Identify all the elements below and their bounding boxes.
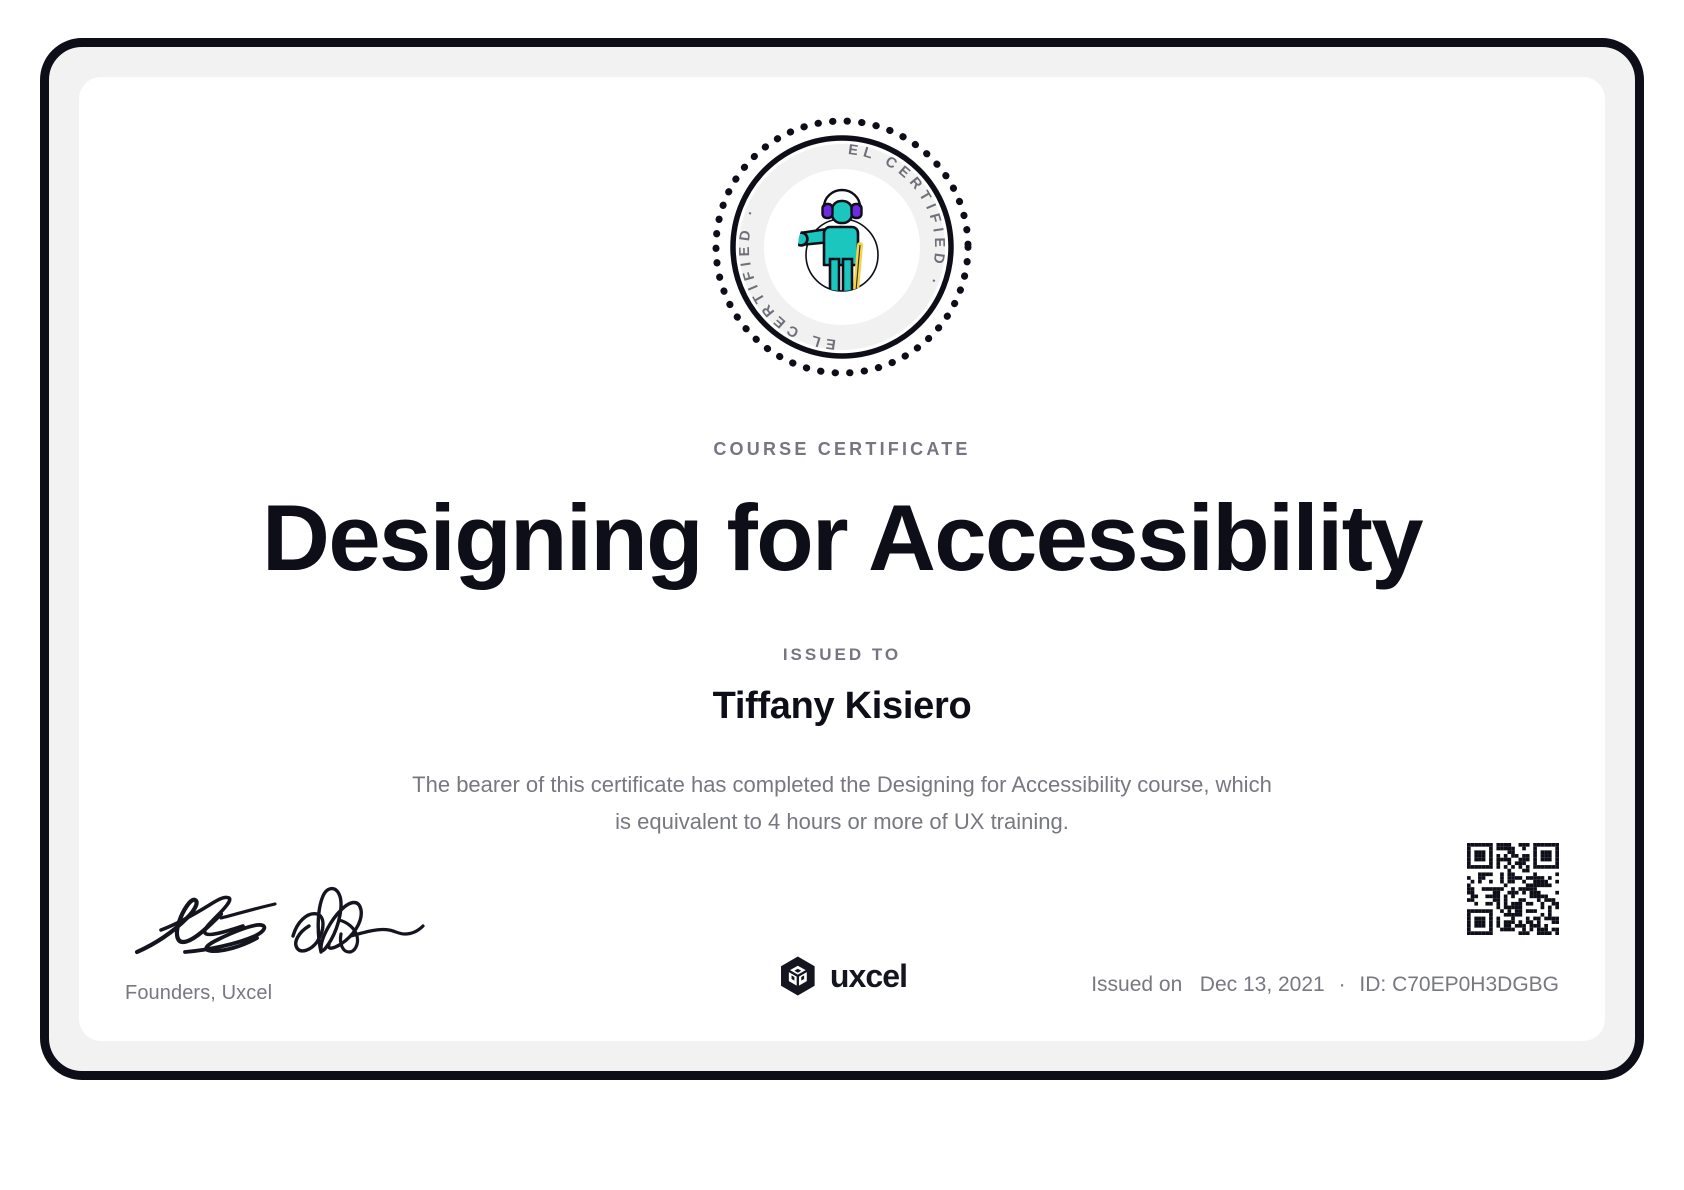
meta-separator: · [1331,973,1354,996]
issue-meta: Issued on Dec 13, 2021 · ID: C70EP0H3DGB… [1091,973,1559,997]
issued-to-label: ISSUED TO [79,645,1605,665]
signature-block: Founders, Uxcel [125,880,485,1005]
certificate-description: The bearer of this certificate has compl… [412,767,1272,841]
uxcel-logo: uxcel [777,955,907,997]
signature-icon [125,880,425,972]
certificate-id: ID: C70EP0H3DGBG [1359,973,1559,996]
certificate-card: UXCEL CERTIFIED · UXCEL CERTIFIED · [79,77,1605,1041]
uxcel-certified-seal-icon: UXCEL CERTIFIED · UXCEL CERTIFIED · [710,115,974,379]
uxcel-wordmark: uxcel [830,958,907,995]
certificate-frame: UXCEL CERTIFIED · UXCEL CERTIFIED · [40,38,1644,1080]
issued-on-prefix: Issued on [1091,973,1182,996]
uxcel-cube-icon [777,955,819,997]
certificate-title: Designing for Accessibility [79,487,1605,589]
signatory-label: Founders, Uxcel [125,982,485,1005]
issued-on-date: Dec 13, 2021 [1200,973,1325,996]
course-certificate-eyebrow: COURSE CERTIFICATE [79,439,1605,460]
recipient-name: Tiffany Kisiero [79,685,1605,728]
verification-qr-code[interactable] [1467,843,1559,935]
